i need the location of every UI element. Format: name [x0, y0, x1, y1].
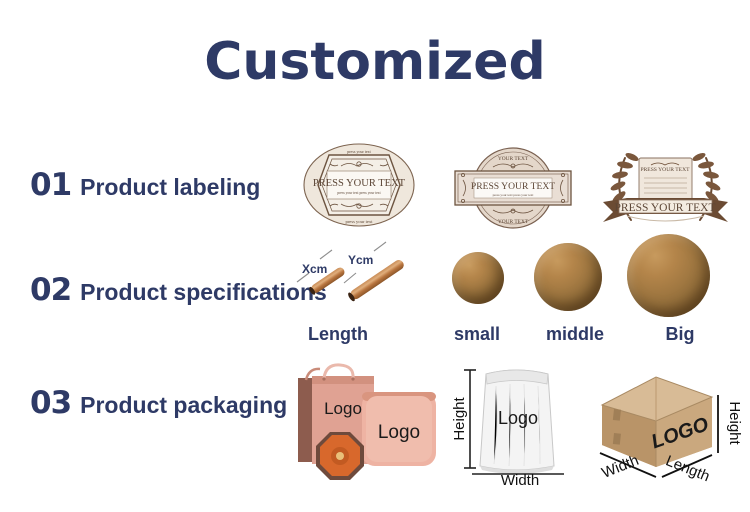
- label2-main-text: PRESS YOUR TEXT: [471, 181, 555, 192]
- label1-main-text: PRESS YOUR TEXT: [313, 178, 406, 189]
- label1-bottom-text: press your text: [345, 219, 373, 224]
- row-label-product-labeling: Product labeling: [80, 174, 260, 201]
- stick-label-ycm: Ycm: [348, 253, 373, 267]
- box-logo-text: Logo: [378, 422, 420, 443]
- length-sticks-illustration: Xcm Ycm: [288, 237, 423, 317]
- row-number-03: 03: [30, 385, 71, 421]
- ball-big-surface: [627, 234, 710, 317]
- caption-length: Length: [288, 324, 388, 345]
- woven-sack-illustration: Logo Height Width: [452, 362, 580, 486]
- row-heading-product-packaging: 03 Product packaging: [30, 385, 287, 421]
- label2-sub-text: press your text press your text: [493, 193, 534, 197]
- customized-infographic: Customized 01 Product labeling 02 Produc…: [0, 0, 750, 512]
- ball-middle-surface: [534, 243, 602, 311]
- bag-logo-text: Logo: [324, 399, 362, 418]
- ball-big: [627, 234, 710, 317]
- caption-middle: middle: [535, 324, 615, 345]
- sack-logo-text: Logo: [498, 408, 538, 428]
- label2-top-text: YOUR TEXT: [498, 156, 529, 162]
- row-number-01: 01: [30, 167, 71, 203]
- carton-box-illustration: LOGO Height Length Width: [578, 361, 744, 487]
- row-heading-product-specifications: 02 Product specifications: [30, 272, 327, 308]
- row-label-product-packaging: Product packaging: [80, 392, 287, 419]
- ornate-oval-label: PRESS YOUR TEXT press your text press yo…: [296, 141, 422, 229]
- ball-middle: [534, 243, 602, 311]
- gift-bag-and-box-illustration: Logo Logo: [296, 362, 438, 484]
- sack-width-label: Width: [501, 472, 539, 486]
- row-number-02: 02: [30, 272, 71, 308]
- ball-small-surface: [452, 252, 504, 304]
- ball-small: [452, 252, 504, 304]
- label3-top-text: PRESS YOUR TEXT: [640, 167, 690, 173]
- label1-sub-text: press your text press your text: [337, 191, 380, 195]
- label3-main-text: PRESS YOUR TEXT: [615, 202, 716, 214]
- label1-top-text: press your text: [347, 149, 371, 154]
- label2-bottom-text: YOUR TEXT: [498, 219, 529, 225]
- caption-big: Big: [655, 324, 705, 345]
- circle-banner-label: YOUR TEXT YOUR TEXT PRESS YOUR TEXT pres…: [447, 142, 579, 234]
- caption-small: small: [443, 324, 511, 345]
- laurel-ribbon-label: PRESS YOUR TEXT PRESS YOUR TEXT: [597, 140, 734, 235]
- page-title: Customized: [0, 32, 750, 92]
- carton-height-label: Height: [726, 401, 743, 445]
- stick-label-xcm: Xcm: [302, 262, 327, 276]
- row-heading-product-labeling: 01 Product labeling: [30, 167, 260, 203]
- sack-height-label: Height: [452, 396, 468, 440]
